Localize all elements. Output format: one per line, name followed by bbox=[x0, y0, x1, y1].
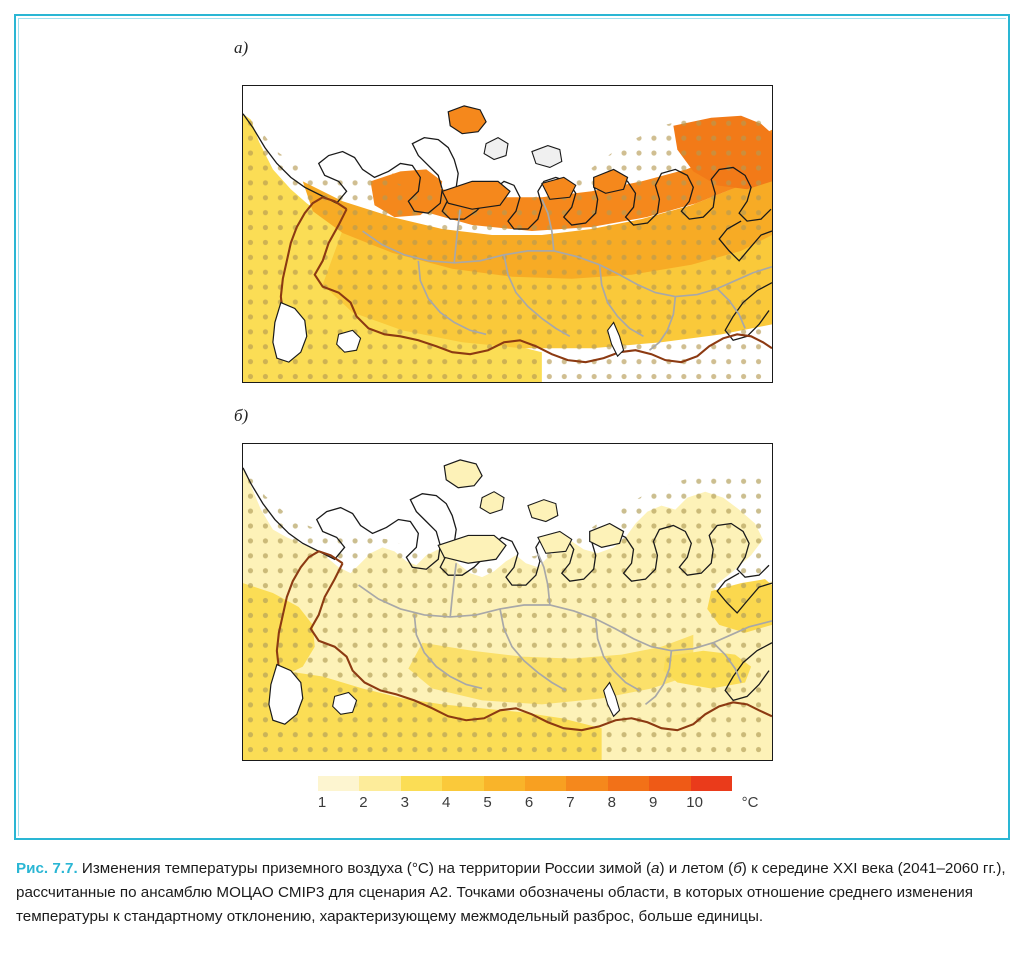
colorbar-segment-6 bbox=[525, 776, 566, 791]
colorbar-tick-9: 9 bbox=[649, 794, 657, 811]
colorbar-tick-labels: 12345678910°C bbox=[318, 794, 778, 816]
colorbar-tick-1: 1 bbox=[318, 794, 326, 811]
colorbar: 12345678910°C bbox=[318, 776, 732, 816]
colorbar-tick-6: 6 bbox=[525, 794, 533, 811]
panel-label-a: а) bbox=[234, 38, 248, 58]
colorbar-segment-4 bbox=[442, 776, 483, 791]
colorbar-strip bbox=[318, 776, 732, 791]
panel-label-b: б) bbox=[234, 406, 248, 426]
colorbar-tick-8: 8 bbox=[608, 794, 616, 811]
figure-number: Рис. 7.7. bbox=[16, 860, 78, 877]
map-b-svg bbox=[243, 444, 772, 760]
colorbar-segment-5 bbox=[484, 776, 525, 791]
colorbar-segment-7 bbox=[566, 776, 607, 791]
figure-caption-text: Изменения температуры приземного воздуха… bbox=[16, 860, 1006, 925]
colorbar-segment-3 bbox=[401, 776, 442, 791]
colorbar-tick-5: 5 bbox=[483, 794, 491, 811]
colorbar-tick-10: 10 bbox=[686, 794, 703, 811]
colorbar-tick-7: 7 bbox=[566, 794, 574, 811]
colorbar-tick-3: 3 bbox=[401, 794, 409, 811]
colorbar-tick-2: 2 bbox=[359, 794, 367, 811]
figure-page: а) bbox=[0, 0, 1024, 970]
map-panel-b[interactable] bbox=[242, 443, 773, 761]
colorbar-segment-8 bbox=[608, 776, 649, 791]
colorbar-unit-label: °C bbox=[742, 794, 759, 811]
colorbar-segment-1 bbox=[318, 776, 359, 791]
colorbar-segment-10 bbox=[691, 776, 732, 791]
colorbar-segment-9 bbox=[649, 776, 690, 791]
colorbar-segment-2 bbox=[359, 776, 400, 791]
map-panel-a[interactable] bbox=[242, 85, 773, 383]
colorbar-tick-4: 4 bbox=[442, 794, 450, 811]
figure-caption: Рис. 7.7. Изменения температуры приземно… bbox=[16, 857, 1012, 929]
map-a-svg bbox=[243, 86, 772, 382]
